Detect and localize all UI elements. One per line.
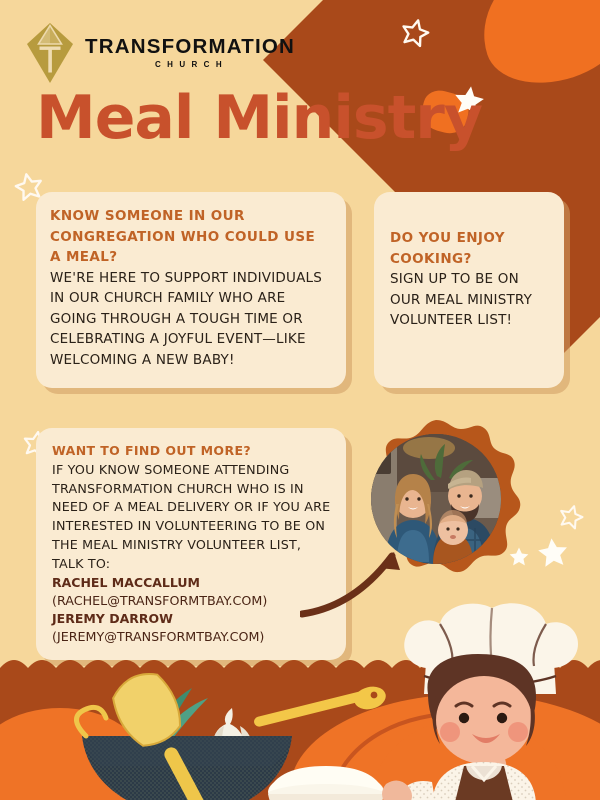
card-enjoy-cooking-heading: DO YOU ENJOY COOKING?: [390, 228, 550, 269]
contact-name-1: RACHEL MACCALLUM: [52, 574, 332, 592]
star-outline-right-icon: [555, 501, 587, 533]
cartoon-chef-illustration: [380, 596, 600, 800]
page-title: Meal Ministry: [36, 88, 482, 148]
diamond-cross-logo-icon: [26, 22, 74, 84]
star-filled-right-icon: [534, 534, 571, 571]
card-need-a-meal-heading: KNOW SOMEONE IN OUR CONGREGATION WHO COU…: [50, 206, 330, 268]
card-need-a-meal: KNOW SOMEONE IN OUR CONGREGATION WHO COU…: [36, 192, 346, 388]
poster-canvas: TRANSFORMATION CHURCH Meal Ministry KNOW…: [0, 0, 600, 800]
card-need-a-meal-body: WE'RE HERE TO SUPPORT INDIVIDUALS IN OUR…: [50, 268, 330, 371]
brand-name: TRANSFORMATION: [85, 37, 295, 58]
contact-email-1[interactable]: (RACHEL@TRANSFORMTBAY.COM): [52, 592, 332, 610]
card-enjoy-cooking: DO YOU ENJOY COOKING? SIGN UP TO BE ON O…: [374, 192, 564, 388]
card-find-out-more-heading: WANT TO FIND OUT MORE?: [52, 442, 332, 461]
contact-name-2: JEREMY DARROW: [52, 610, 332, 628]
card-enjoy-cooking-body: SIGN UP TO BE ON OUR MEAL MINISTRY VOLUN…: [390, 269, 550, 331]
brand-logo-text: TRANSFORMATION CHURCH: [85, 37, 295, 69]
card-find-out-more-body: IF YOU KNOW SOMEONE ATTENDING TRANSFORMA…: [52, 461, 332, 574]
brand-subtitle: CHURCH: [85, 61, 295, 69]
brand-logo: TRANSFORMATION CHURCH: [26, 22, 295, 84]
